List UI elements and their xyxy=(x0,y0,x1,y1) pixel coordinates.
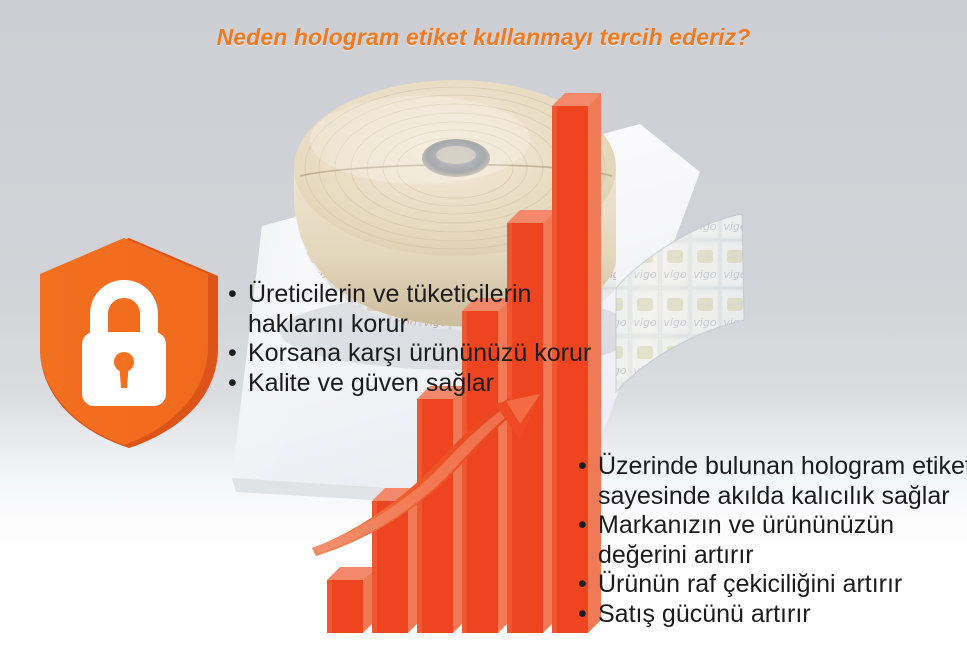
bar-front-face xyxy=(327,580,363,633)
bar-highlight xyxy=(417,399,422,633)
poster-canvas: vigo vigo xyxy=(0,0,967,648)
bar-highlight xyxy=(327,580,332,633)
bullet-dot-icon: • xyxy=(228,339,237,369)
list-item-line: Korsana karşı ürününüzü korur xyxy=(248,339,591,367)
page-title: Neden hologram etiket kullanmayı tercih … xyxy=(0,24,967,51)
list-item-line: Üreticilerin ve tüketicilerin xyxy=(248,280,531,308)
bullet-dot-icon: • xyxy=(578,570,587,600)
benefits-list-left: •Üreticilerin ve tüketicilerinhaklarını … xyxy=(228,280,591,398)
bullet-dot-icon: • xyxy=(578,452,587,482)
list-item-line: Üzerinde bulunan hologram etiket xyxy=(598,452,967,480)
list-item-line: Kalite ve güven sağlar xyxy=(248,369,494,397)
list-item: •Kalite ve güven sağlar xyxy=(228,369,591,399)
list-item-line: Markanızın ve ürününüzün xyxy=(598,511,894,539)
bullet-dot-icon: • xyxy=(578,511,587,541)
list-item: •Üreticilerin ve tüketicilerinhaklarını … xyxy=(228,280,591,339)
list-item-line: haklarını korur xyxy=(248,310,591,340)
list-item-line: Ürünün raf çekiciliğini artırır xyxy=(598,570,902,598)
bar-front-face xyxy=(417,399,453,633)
list-item: •Satış gücünü artırır xyxy=(578,600,967,630)
bullet-dot-icon: • xyxy=(228,280,237,310)
list-item: •Markanızın ve ürününüzündeğerini artırı… xyxy=(578,511,967,570)
bullet-dot-icon: • xyxy=(228,369,237,399)
list-item-line: değerini artırır xyxy=(598,541,967,571)
list-item: •Korsana karşı ürününüzü korur xyxy=(228,339,591,369)
list-item: •Ürünün raf çekiciliğini artırır xyxy=(578,570,967,600)
benefits-list-right: •Üzerinde bulunan hologram etiketsayesin… xyxy=(578,452,967,629)
list-item-line: sayesinde akılda kalıcılık sağlar xyxy=(598,482,967,512)
list-item-line: Satış gücünü artırır xyxy=(598,600,811,628)
list-item: •Üzerinde bulunan hologram etiketsayesin… xyxy=(578,452,967,511)
bullet-dot-icon: • xyxy=(578,600,587,630)
